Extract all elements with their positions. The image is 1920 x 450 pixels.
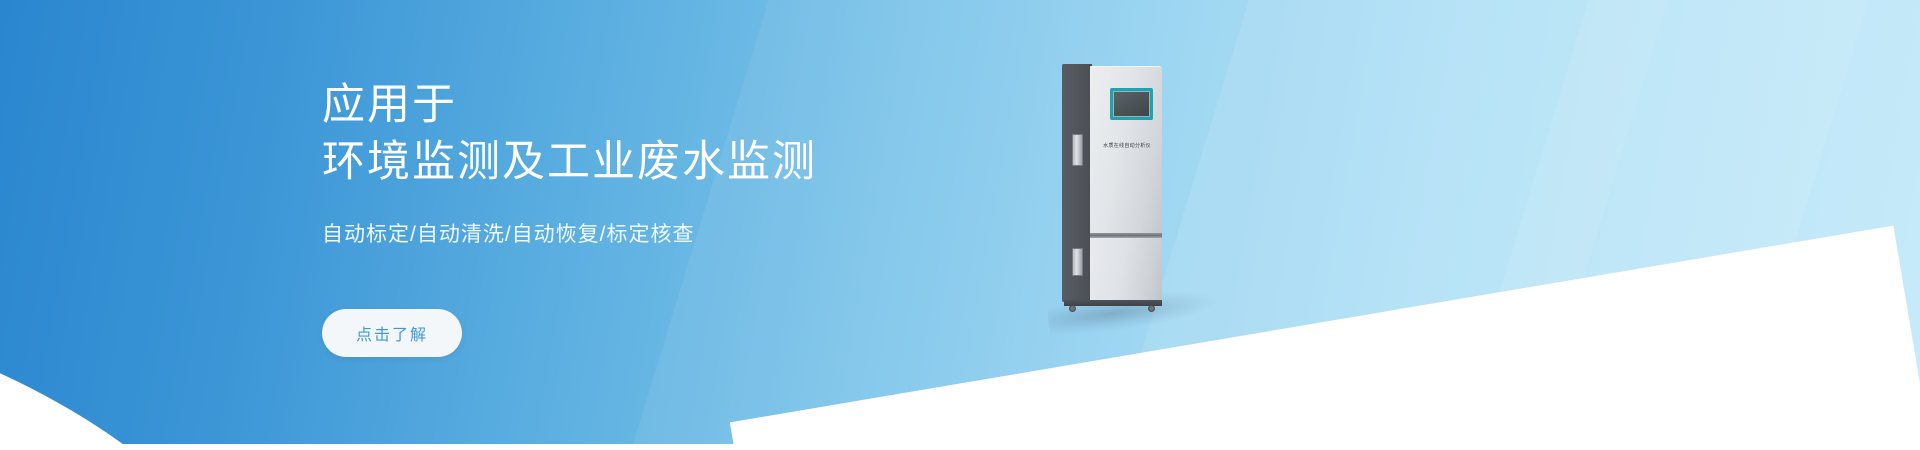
- product-image-water-analyzer: 水质在线自动分析仪: [1062, 64, 1172, 312]
- background-baseline-strip: [0, 444, 1920, 450]
- cabinet-plinth: [1064, 300, 1162, 306]
- product-model-label: 水质在线自动分析仪: [1096, 142, 1158, 149]
- banner-subtitle: 自动标定/自动清洗/自动恢复/标定核查: [322, 220, 962, 250]
- analyzer-display-screen: [1110, 88, 1153, 120]
- analyzer-display-surface: [1113, 91, 1150, 117]
- headline-line-2: 环境监测及工业废水监测: [322, 134, 962, 191]
- banner-copy: 应用于 环境监测及工业废水监测 自动标定/自动清洗/自动恢复/标定核查 点击了解: [322, 48, 962, 357]
- cabinet-handle-lower: [1072, 248, 1083, 276]
- learn-more-button[interactable]: 点击了解: [322, 309, 462, 357]
- cabinet-handle-upper: [1072, 134, 1083, 166]
- hero-banner: 应用于 环境监测及工业废水监测 自动标定/自动清洗/自动恢复/标定核查 点击了解…: [0, 0, 1920, 450]
- cabinet-lower-door: [1090, 238, 1162, 302]
- page-title: 应用于 环境监测及工业废水监测: [322, 77, 962, 191]
- headline-line-1: 应用于: [322, 77, 962, 134]
- cabinet-caster-right: [1148, 305, 1155, 312]
- analyzer-cabinet: 水质在线自动分析仪: [1062, 64, 1172, 312]
- cabinet-caster-left: [1069, 305, 1076, 312]
